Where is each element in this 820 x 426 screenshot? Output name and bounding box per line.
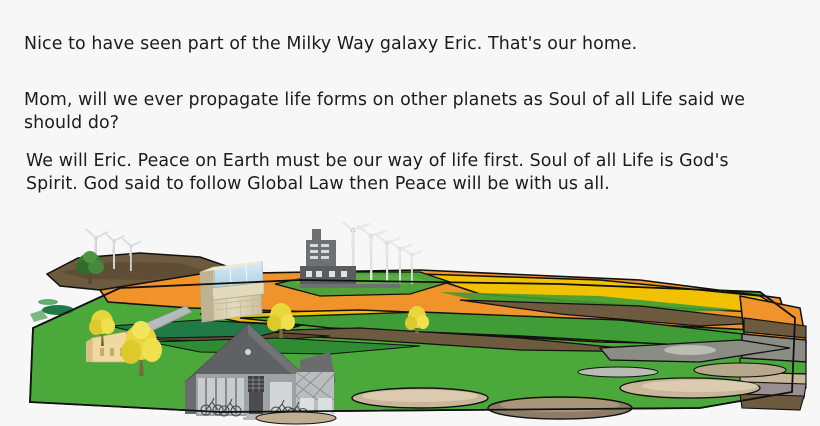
porch-glass-left: [198, 378, 244, 414]
dialogue-line-1: Nice to have seen part of the Milky Way …: [24, 33, 804, 56]
landscape-illustration: [0, 222, 820, 426]
glass-building: [200, 261, 264, 322]
lattice-wall-right: [296, 372, 334, 414]
barn-windows: [100, 348, 124, 356]
landscape-svg: [0, 222, 820, 426]
dialogue-line-2: Mom, will we ever propagate life forms o…: [24, 89, 808, 135]
dialogue-line-3: We will Eric. Peace on Earth must be our…: [26, 150, 786, 196]
page-root: Nice to have seen part of the Milky Way …: [0, 0, 820, 426]
